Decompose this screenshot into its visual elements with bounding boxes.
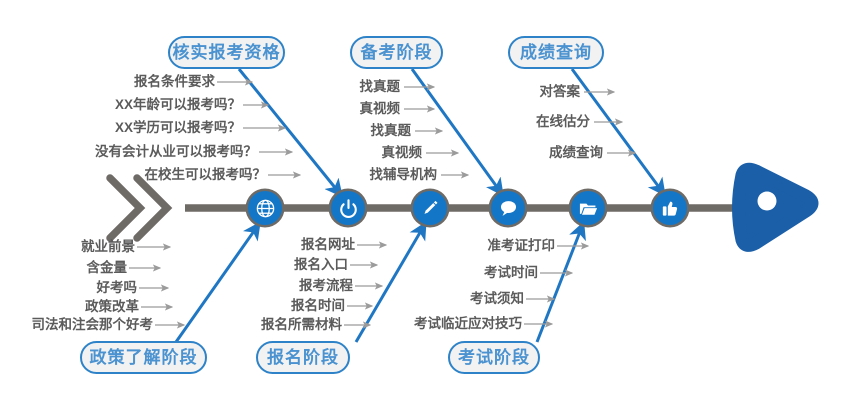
branch-item: 在线估分 xyxy=(536,114,590,130)
branch-item: 司法和注会那个好考 xyxy=(32,317,154,333)
node-thumbs-up[interactable] xyxy=(653,191,687,225)
branch-item: 准考证打印 xyxy=(488,238,556,254)
category-label-preparation[interactable]: 备考阶段 xyxy=(350,36,443,69)
power-icon xyxy=(338,198,359,219)
category-label-policy[interactable]: 政策了解阶段 xyxy=(80,341,207,374)
branch-item: 报名时间 xyxy=(291,298,345,314)
fishbone-diagram: 核实报考资格 备考阶段 成绩查询 政策了解阶段 报名阶段 考试阶段 报名条件要求… xyxy=(0,0,865,408)
branch-item: 政策改革 xyxy=(85,299,139,315)
pencil-icon xyxy=(420,198,440,218)
branch-item: 真视频 xyxy=(360,101,401,117)
category-label-registration[interactable]: 报名阶段 xyxy=(256,341,350,374)
branch-item: 报名条件要求 xyxy=(134,74,215,90)
fish-eye xyxy=(758,192,777,211)
branch-item: XX学历可以报考吗？ xyxy=(115,120,241,136)
branch-item: 好考吗 xyxy=(97,280,138,296)
fish-head xyxy=(739,169,813,245)
branch-item: 报名所需材料 xyxy=(261,317,342,333)
branch-item: 找辅导机构 xyxy=(370,167,438,183)
branch-item: 含金量 xyxy=(87,260,128,276)
branch-item: 找真题 xyxy=(371,123,412,139)
node-globe[interactable] xyxy=(248,191,282,225)
branch-item: XX年龄可以报考吗？ xyxy=(115,97,241,113)
branch-item: 没有会计从业可以报考吗？ xyxy=(95,144,257,160)
branch-item: 考试临近应对技巧 xyxy=(414,316,522,332)
branch-item: 报名入口 xyxy=(294,257,348,273)
node-folder-open[interactable] xyxy=(571,191,605,225)
branch-item: 真视频 xyxy=(382,145,423,161)
branch-item: 报考流程 xyxy=(299,278,353,294)
category-label-qualification[interactable]: 核实报考资格 xyxy=(168,36,285,69)
branch-item: 就业前景 xyxy=(81,239,135,255)
folder-open-icon xyxy=(578,198,599,219)
fish-tail xyxy=(110,178,167,238)
branch-item: 找真题 xyxy=(360,79,401,95)
globe-icon xyxy=(255,198,276,219)
branch-item: 考试时间 xyxy=(484,265,538,281)
node-power[interactable] xyxy=(331,191,365,225)
category-label-exam[interactable]: 考试阶段 xyxy=(448,341,540,374)
branch-item: 报名网址 xyxy=(301,237,355,253)
branch-item: 对答案 xyxy=(540,84,581,100)
branch-item: 成绩查询 xyxy=(549,145,603,161)
thumbs-up-icon xyxy=(660,198,680,218)
category-label-score[interactable]: 成绩查询 xyxy=(508,36,604,69)
node-pencil[interactable] xyxy=(413,191,447,225)
speech-bubble-icon xyxy=(498,198,519,219)
branch-item: 考试须知 xyxy=(470,291,524,307)
branch-item: 在校生可以报考吗？ xyxy=(145,167,267,183)
node-speech-bubble[interactable] xyxy=(491,191,525,225)
